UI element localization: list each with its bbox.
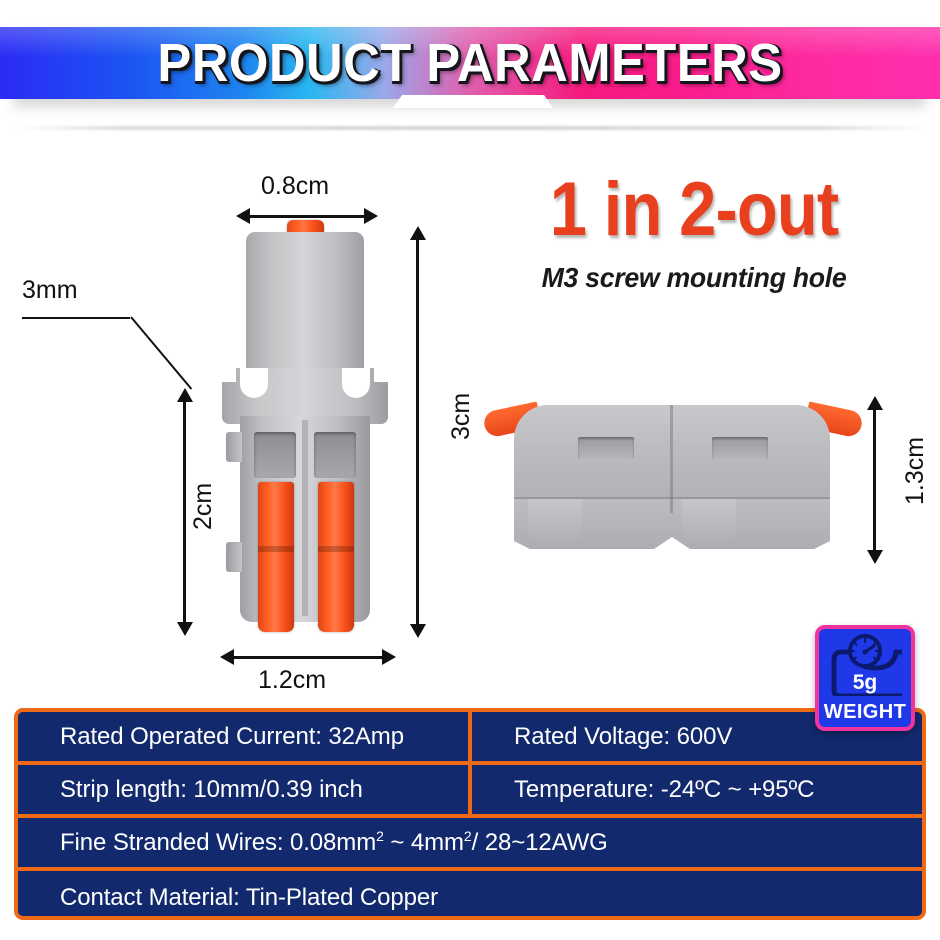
callout-line-diagonal-3mm [130, 316, 192, 389]
side-slot-right [712, 437, 768, 459]
weight-caption: WEIGHT [819, 701, 911, 724]
specification-table: Rated Operated Current: 32Amp Rated Volt… [14, 708, 926, 920]
table-cell-fine-stranded-wires: Fine Stranded Wires: 0.08mm2 ~ 4mm2/ 28~… [18, 818, 922, 867]
side-tab-upper [226, 432, 242, 462]
arrow-down-1-3cm [867, 550, 883, 564]
spec-text-temperature: Temperature: -24ºC ~ +95ºC [514, 776, 814, 804]
dimension-line-1-2cm [232, 656, 384, 659]
side-slot-left [578, 437, 634, 459]
lever-bottom-right-orange [318, 482, 354, 632]
table-cell-strip-length: Strip length: 10mm/0.39 inch [18, 765, 472, 814]
arrow-up-1-3cm [867, 396, 883, 410]
dimension-label-1-3cm: 1.3cm [901, 437, 930, 505]
arrow-up-3cm [410, 226, 426, 240]
wire-window-right [314, 432, 356, 478]
table-row: Contact Material: Tin-Plated Copper [18, 871, 922, 920]
connector-front-view [222, 220, 388, 632]
dimension-label-3mm: 3mm [22, 276, 78, 305]
dimension-line-1-3cm [873, 408, 876, 552]
arrow-down-2cm [177, 622, 193, 636]
headline-main-text: 1 in 2-out [509, 172, 879, 248]
arrow-down-3cm [410, 624, 426, 638]
dimension-line-0-8cm [248, 215, 366, 218]
dimension-label-0-8cm: 0.8cm [261, 172, 329, 201]
callout-line-horizontal-3mm [22, 317, 130, 319]
dimension-label-1-2cm: 1.2cm [258, 666, 326, 695]
table-row: Rated Operated Current: 32Amp Rated Volt… [18, 712, 922, 765]
headline-sub-text: M3 screw mounting hole [490, 262, 897, 294]
center-divider-slot [302, 420, 308, 616]
ear-cut-left [222, 368, 236, 382]
table-cell-contact-material: Contact Material: Tin-Plated Copper [18, 871, 922, 920]
arrow-right-1-2cm [382, 649, 396, 665]
dimension-label-2cm: 2cm [189, 483, 218, 530]
page-title: PRODUCT PARAMETERS [28, 27, 912, 99]
side-foot-left [528, 499, 582, 539]
arrow-left-0-8cm [236, 208, 250, 224]
dimension-line-3cm [416, 238, 419, 626]
mounting-hole-right [342, 368, 370, 398]
connector-side-view [482, 387, 862, 555]
table-cell-rated-current: Rated Operated Current: 32Amp [18, 712, 472, 761]
arrow-left-1-2cm [220, 649, 234, 665]
table-cell-temperature: Temperature: -24ºC ~ +95ºC [472, 765, 922, 814]
spec-text-fine-stranded-wires: Fine Stranded Wires: 0.08mm2 ~ 4mm2/ 28~… [60, 828, 608, 857]
weight-badge: 5g WEIGHT [815, 625, 915, 731]
dimension-line-2cm [183, 400, 186, 624]
side-foot-right [682, 499, 736, 539]
spec-text-rated-current: Rated Operated Current: 32Amp [60, 723, 404, 751]
side-tab-lower [226, 542, 242, 572]
product-diagram-area: 1 in 2-out M3 screw mounting hole 0.8cm [0, 110, 940, 710]
table-row: Strip length: 10mm/0.39 inch Temperature… [18, 765, 922, 818]
mounting-hole-left [240, 368, 268, 398]
spec-text-rated-voltage: Rated Voltage: 600V [514, 723, 732, 751]
spec-text-strip-length: Strip length: 10mm/0.39 inch [60, 776, 363, 804]
wire-window-left [254, 432, 296, 478]
banner-bottom-notch [393, 95, 553, 108]
arrow-right-0-8cm [364, 208, 378, 224]
side-center-seam [670, 405, 673, 513]
header-banner: PRODUCT PARAMETERS [0, 27, 940, 99]
weight-value: 5g [819, 672, 911, 693]
table-row: Fine Stranded Wires: 0.08mm2 ~ 4mm2/ 28~… [18, 818, 922, 871]
headline-block: 1 in 2-out M3 screw mounting hole [484, 172, 904, 294]
lever-bottom-left-orange [258, 482, 294, 632]
spec-text-contact-material: Contact Material: Tin-Plated Copper [60, 884, 438, 912]
arrow-up-2cm [177, 388, 193, 402]
dimension-label-3cm: 3cm [447, 393, 476, 440]
ear-cut-right [374, 368, 388, 382]
